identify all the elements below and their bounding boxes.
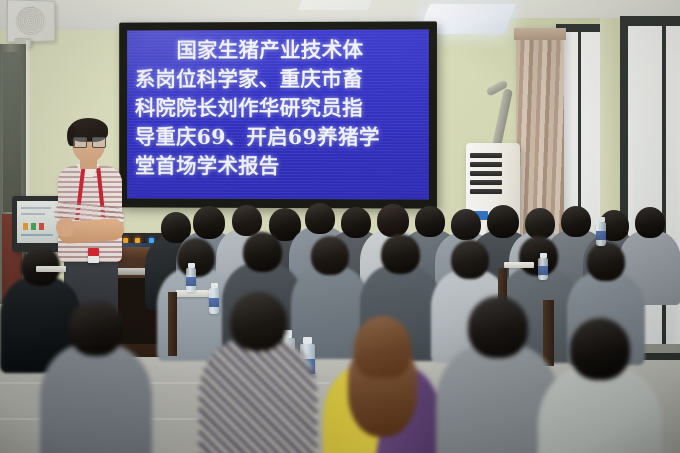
ac-vent-louvre [470,180,502,185]
id-badge [88,248,99,263]
chair-post [168,292,177,356]
attendee-head [570,318,630,380]
attendee-head [311,236,349,275]
attendee-head [468,296,528,358]
wall-speaker [7,0,55,43]
attendee-head [635,207,665,238]
curtain-rail [514,28,566,40]
speaker-grille [16,6,46,37]
attendee-head [354,316,411,378]
slide-line-3: 科院院长刘作华研究员指 [135,94,419,123]
chair-tablet-arm [504,262,534,268]
water-bottle[interactable] [596,222,606,246]
slide-line-4: 导重庆69、开启69养猪学 [135,123,419,152]
ac-vent-louvre [470,189,502,194]
attendee-torso [199,338,317,453]
chair-tablet-arm [36,266,66,272]
ac-vent-louvre [470,153,502,158]
attendee-head [230,292,287,351]
attendee-head [381,234,420,274]
slide-line-2: 系岗位科学家、重庆市畜 [135,65,419,94]
door-glass [3,52,21,212]
water-bottle[interactable] [186,268,196,292]
attendee-checkered [199,292,317,453]
attendee-head [243,232,282,272]
attendee-head [587,242,625,281]
ceiling-light-panel-secondary [298,0,372,10]
ac-vent-louvre [470,171,502,176]
ac-vent-louvre [470,162,502,167]
eyeglasses-icon [73,137,104,146]
slide-text-block: 国家生猪产业技术体 系岗位科学家、重庆市畜 科院院长刘作华研究员指 导重庆69、… [127,35,429,181]
projection-screen-surface: 国家生猪产业技术体 系岗位科学家、重庆市畜 科院院长刘作华研究员指 导重庆69、… [127,29,429,199]
lecture-room-photo: 国家生猪产业技术体 系岗位科学家、重庆市畜 科院院长刘作华研究员指 导重庆69、… [0,0,680,453]
attendee-torso [40,344,152,453]
presenter-hand [56,218,74,237]
attendee [538,318,662,453]
water-bottle[interactable] [538,258,548,280]
slide-line-1: 国家生猪产业技术体 [135,36,419,66]
projection-screen: 国家生猪产业技术体 系岗位科学家、重庆市畜 科院院长刘作华研究员指 导重庆69、… [119,21,437,208]
slide-line-5: 堂首场学术报告 [135,152,419,182]
attendee-head [177,238,215,277]
attendee-woman [323,316,441,453]
attendee-head [451,240,489,279]
attendee [40,300,152,453]
attendee-head [69,300,123,356]
